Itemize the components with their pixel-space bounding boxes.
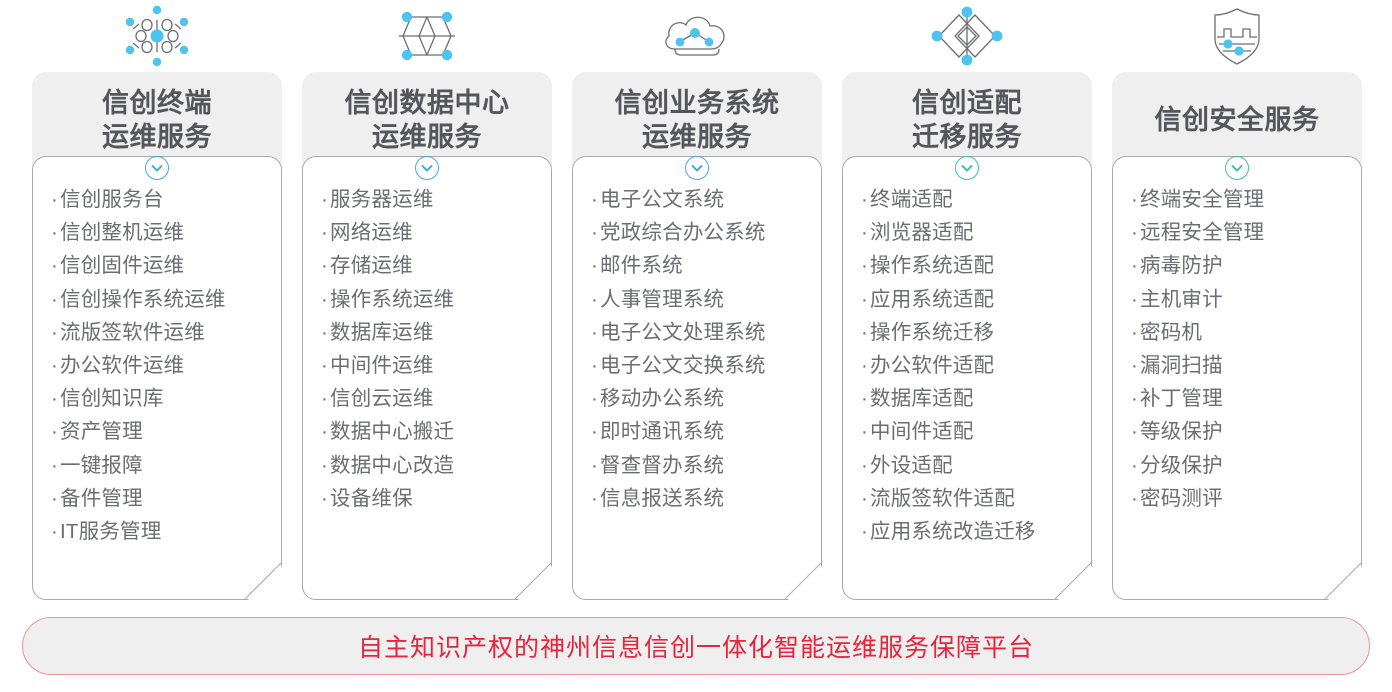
- platform-banner-text: 自主知识产权的神州信息信创一体化智能运维服务保障平台: [358, 628, 1034, 664]
- column-title: 信创数据中心 运维服务: [345, 86, 510, 154]
- bullet-dot: ·: [861, 188, 868, 211]
- list-item[interactable]: ·流版签软件运维: [51, 316, 281, 349]
- list-item-label: 信创整机运维: [60, 221, 184, 244]
- list-item-label: 移动办公系统: [600, 387, 724, 410]
- list-item-label: 应用系统改造迁移: [870, 520, 1036, 543]
- list-item-label: 病毒防护: [1140, 254, 1223, 277]
- list-item[interactable]: ·分级保护: [1131, 449, 1361, 482]
- bullet-dot: ·: [861, 221, 868, 244]
- list-item-label: 督查督办系统: [600, 454, 724, 477]
- service-column-adaptation[interactable]: 信创适配 迁移服务 ·终端适配 ·浏览器适配 ·操作系统适配 ·应用系统适配 ·…: [842, 0, 1092, 600]
- list-item[interactable]: ·电子公文处理系统: [591, 316, 821, 349]
- list-item[interactable]: ·浏览器适配: [861, 216, 1091, 249]
- list-item[interactable]: ·信创知识库: [51, 382, 281, 415]
- bullet-dot: ·: [861, 520, 868, 543]
- list-item[interactable]: ·信创固件运维: [51, 249, 281, 282]
- bullet-dot: ·: [591, 221, 598, 244]
- bullet-dot: ·: [321, 288, 328, 311]
- list-item-label: 数据库适配: [870, 387, 974, 410]
- bullet-dot: ·: [591, 420, 598, 443]
- bullet-dot: ·: [1131, 487, 1138, 510]
- list-item[interactable]: ·信创云运维: [321, 382, 551, 415]
- bullet-dot: ·: [591, 321, 598, 344]
- bullet-dot: ·: [591, 387, 598, 410]
- platform-banner: 自主知识产权的神州信息信创一体化智能运维服务保障平台: [22, 617, 1370, 675]
- list-item[interactable]: ·电子公文交换系统: [591, 349, 821, 382]
- chevron-down-icon[interactable]: [415, 156, 439, 180]
- list-item[interactable]: ·操作系统适配: [861, 249, 1091, 282]
- list-item[interactable]: ·党政综合办公系统: [591, 216, 821, 249]
- list-item[interactable]: ·终端安全管理: [1131, 183, 1361, 216]
- card-chamfer-corner: [243, 561, 283, 601]
- list-item-label: 密码机: [1140, 321, 1202, 344]
- bullet-dot: ·: [1131, 420, 1138, 443]
- column-header-plate: 信创终端 运维服务: [32, 72, 282, 168]
- bullet-dot: ·: [861, 354, 868, 377]
- list-item-label: 密码测评: [1140, 487, 1223, 510]
- list-item[interactable]: ·密码测评: [1131, 482, 1361, 515]
- hexagon-cluster-icon: [302, 0, 552, 72]
- list-item[interactable]: ·主机审计: [1131, 283, 1361, 316]
- service-item-list: ·终端安全管理 ·远程安全管理 ·病毒防护 ·主机审计 ·密码机 ·漏洞扫描 ·…: [1131, 183, 1361, 515]
- bullet-dot: ·: [591, 354, 598, 377]
- list-item[interactable]: ·即时通讯系统: [591, 415, 821, 448]
- card-chamfer-corner: [783, 561, 823, 601]
- list-item[interactable]: ·终端适配: [861, 183, 1091, 216]
- bullet-dot: ·: [1131, 454, 1138, 477]
- list-item[interactable]: ·密码机: [1131, 316, 1361, 349]
- list-item[interactable]: ·外设适配: [861, 449, 1091, 482]
- bullet-dot: ·: [1131, 387, 1138, 410]
- list-item[interactable]: ·数据库运维: [321, 316, 551, 349]
- list-item[interactable]: ·应用系统适配: [861, 283, 1091, 316]
- chevron-down-icon[interactable]: [685, 156, 709, 180]
- list-item-label: 信创服务台: [60, 188, 164, 211]
- list-item[interactable]: ·人事管理系统: [591, 283, 821, 316]
- list-item-label: 数据库运维: [330, 321, 434, 344]
- list-item[interactable]: ·远程安全管理: [1131, 216, 1361, 249]
- list-item[interactable]: ·移动办公系统: [591, 382, 821, 415]
- list-item[interactable]: ·中间件运维: [321, 349, 551, 382]
- bullet-dot: ·: [861, 288, 868, 311]
- bullet-dot: ·: [51, 288, 58, 311]
- column-header-plate: 信创适配 迁移服务: [842, 72, 1092, 168]
- list-item[interactable]: ·等级保护: [1131, 415, 1361, 448]
- cloud-network-icon: [572, 0, 822, 72]
- list-item[interactable]: ·数据中心搬迁: [321, 415, 551, 448]
- list-item[interactable]: ·IT服务管理: [51, 515, 281, 548]
- list-item-label: 即时通讯系统: [600, 420, 724, 443]
- bullet-dot: ·: [51, 520, 58, 543]
- bullet-dot: ·: [1131, 354, 1138, 377]
- list-item-label: 操作系统适配: [870, 254, 994, 277]
- service-item-list: ·信创服务台 ·信创整机运维 ·信创固件运维 ·信创操作系统运维 ·流版签软件运…: [51, 183, 281, 548]
- bullet-dot: ·: [861, 454, 868, 477]
- list-item-label: 主机审计: [1140, 288, 1223, 311]
- list-item-label: 终端安全管理: [1140, 188, 1264, 211]
- list-item[interactable]: ·资产管理: [51, 415, 281, 448]
- list-item-label: 信创固件运维: [60, 254, 184, 277]
- list-item-label: 操作系统迁移: [870, 321, 994, 344]
- list-item[interactable]: ·电子公文系统: [591, 183, 821, 216]
- list-item-label: 浏览器适配: [870, 221, 974, 244]
- bullet-dot: ·: [51, 454, 58, 477]
- bullet-dot: ·: [1131, 288, 1138, 311]
- bullet-dot: ·: [1131, 188, 1138, 211]
- list-item-label: 办公软件运维: [60, 354, 184, 377]
- infographic-page: 信创终端 运维服务 ·信创服务台 ·信创整机运维 ·信创固件运维 ·信创操作系统…: [0, 0, 1392, 692]
- bullet-dot: ·: [321, 420, 328, 443]
- list-item[interactable]: ·信创服务台: [51, 183, 281, 216]
- bullet-dot: ·: [591, 454, 598, 477]
- list-item-label: 信创知识库: [60, 387, 164, 410]
- list-item-label: 中间件适配: [870, 420, 974, 443]
- bullet-dot: ·: [51, 221, 58, 244]
- card-chamfer-corner: [1053, 561, 1093, 601]
- bullet-dot: ·: [861, 321, 868, 344]
- list-item[interactable]: ·漏洞扫描: [1131, 349, 1361, 382]
- service-item-list: ·终端适配 ·浏览器适配 ·操作系统适配 ·应用系统适配 ·操作系统迁移 ·办公…: [861, 183, 1091, 548]
- column-body-card: ·服务器运维 ·网络运维 ·存储运维 ·操作系统运维 ·数据库运维 ·中间件运维…: [302, 156, 552, 600]
- list-item-label: 设备维保: [330, 487, 413, 510]
- list-item-label: 邮件系统: [600, 254, 683, 277]
- bullet-dot: ·: [321, 221, 328, 244]
- list-item-label: 流版签软件适配: [870, 487, 1015, 510]
- bullet-dot: ·: [321, 454, 328, 477]
- bullet-dot: ·: [51, 321, 58, 344]
- card-chamfer-corner: [513, 561, 553, 601]
- column-header-plate: 信创业务系统 运维服务: [572, 72, 822, 168]
- service-column-security[interactable]: 信创安全服务 ·终端安全管理 ·远程安全管理 ·病毒防护 ·主机审计 ·密码机 …: [1112, 0, 1362, 600]
- list-item-label: 中间件运维: [330, 354, 434, 377]
- bullet-dot: ·: [321, 321, 328, 344]
- list-item-label: 办公软件适配: [870, 354, 994, 377]
- list-item-label: 存储运维: [330, 254, 413, 277]
- list-item-label: 服务器运维: [330, 188, 434, 211]
- service-column-datacenter[interactable]: 信创数据中心 运维服务 ·服务器运维 ·网络运维 ·存储运维 ·操作系统运维 ·…: [302, 0, 552, 600]
- column-body-card: ·电子公文系统 ·党政综合办公系统 ·邮件系统 ·人事管理系统 ·电子公文处理系…: [572, 156, 822, 600]
- list-item-label: IT服务管理: [60, 520, 161, 543]
- bullet-dot: ·: [51, 420, 58, 443]
- list-item-label: 操作系统运维: [330, 288, 454, 311]
- bullet-dot: ·: [861, 487, 868, 510]
- binary-network-icon: [32, 0, 282, 72]
- list-item[interactable]: ·信创整机运维: [51, 216, 281, 249]
- bullet-dot: ·: [591, 188, 598, 211]
- bullet-dot: ·: [321, 254, 328, 277]
- service-columns: 信创终端 运维服务 ·信创服务台 ·信创整机运维 ·信创固件运维 ·信创操作系统…: [0, 0, 1392, 600]
- service-column-terminal[interactable]: 信创终端 运维服务 ·信创服务台 ·信创整机运维 ·信创固件运维 ·信创操作系统…: [32, 0, 282, 600]
- list-item[interactable]: ·一键报障: [51, 449, 281, 482]
- list-item[interactable]: ·操作系统迁移: [861, 316, 1091, 349]
- list-item[interactable]: ·邮件系统: [591, 249, 821, 282]
- bullet-dot: ·: [591, 487, 598, 510]
- list-item[interactable]: ·数据库适配: [861, 382, 1091, 415]
- list-item-label: 电子公文交换系统: [600, 354, 766, 377]
- bullet-dot: ·: [861, 420, 868, 443]
- list-item-label: 流版签软件运维: [60, 321, 205, 344]
- list-item[interactable]: ·督查督办系统: [591, 449, 821, 482]
- list-item-label: 分级保护: [1140, 454, 1223, 477]
- service-column-business[interactable]: 信创业务系统 运维服务 ·电子公文系统 ·党政综合办公系统 ·邮件系统 ·人事管…: [572, 0, 822, 600]
- chevron-down-icon[interactable]: [955, 156, 979, 180]
- bullet-dot: ·: [591, 288, 598, 311]
- list-item-label: 电子公文系统: [600, 188, 724, 211]
- bullet-dot: ·: [51, 188, 58, 211]
- shield-pulse-icon: [1112, 0, 1362, 72]
- bullet-dot: ·: [1131, 221, 1138, 244]
- column-body-card: ·终端适配 ·浏览器适配 ·操作系统适配 ·应用系统适配 ·操作系统迁移 ·办公…: [842, 156, 1092, 600]
- list-item[interactable]: ·网络运维: [321, 216, 551, 249]
- column-title: 信创终端 运维服务: [102, 86, 212, 154]
- card-chamfer-corner: [1323, 561, 1363, 601]
- list-item-label: 人事管理系统: [600, 288, 724, 311]
- list-item-label: 资产管理: [60, 420, 143, 443]
- list-item-label: 备件管理: [60, 487, 143, 510]
- list-item-label: 信创云运维: [330, 387, 434, 410]
- list-item[interactable]: ·设备维保: [321, 482, 551, 515]
- list-item[interactable]: ·补丁管理: [1131, 382, 1361, 415]
- bullet-dot: ·: [591, 254, 598, 277]
- bullet-dot: ·: [321, 387, 328, 410]
- bullet-dot: ·: [861, 387, 868, 410]
- bullet-dot: ·: [1131, 254, 1138, 277]
- chevron-down-icon[interactable]: [1225, 156, 1249, 180]
- list-item-label: 外设适配: [870, 454, 953, 477]
- column-title: 信创安全服务: [1155, 103, 1320, 137]
- list-item[interactable]: ·备件管理: [51, 482, 281, 515]
- bullet-dot: ·: [861, 254, 868, 277]
- list-item-label: 网络运维: [330, 221, 413, 244]
- list-item[interactable]: ·服务器运维: [321, 183, 551, 216]
- list-item[interactable]: ·操作系统运维: [321, 283, 551, 316]
- bullet-dot: ·: [321, 354, 328, 377]
- list-item[interactable]: ·办公软件运维: [51, 349, 281, 382]
- list-item[interactable]: ·中间件适配: [861, 415, 1091, 448]
- service-item-list: ·服务器运维 ·网络运维 ·存储运维 ·操作系统运维 ·数据库运维 ·中间件运维…: [321, 183, 551, 515]
- list-item-label: 一键报障: [60, 454, 143, 477]
- service-item-list: ·电子公文系统 ·党政综合办公系统 ·邮件系统 ·人事管理系统 ·电子公文处理系…: [591, 183, 821, 515]
- list-item-label: 终端适配: [870, 188, 953, 211]
- diamond-nodes-icon: [842, 0, 1092, 72]
- list-item[interactable]: ·数据中心改造: [321, 449, 551, 482]
- bullet-dot: ·: [51, 487, 58, 510]
- list-item[interactable]: ·信创操作系统运维: [51, 283, 281, 316]
- list-item-label: 等级保护: [1140, 420, 1223, 443]
- list-item[interactable]: ·流版签软件适配: [861, 482, 1091, 515]
- column-header-plate: 信创安全服务: [1112, 72, 1362, 168]
- bullet-dot: ·: [321, 188, 328, 211]
- list-item-label: 补丁管理: [1140, 387, 1223, 410]
- bullet-dot: ·: [1131, 321, 1138, 344]
- list-item-label: 漏洞扫描: [1140, 354, 1223, 377]
- list-item-label: 数据中心改造: [330, 454, 454, 477]
- bullet-dot: ·: [51, 387, 58, 410]
- chevron-down-icon[interactable]: [145, 156, 169, 180]
- bullet-dot: ·: [51, 354, 58, 377]
- bullet-dot: ·: [51, 254, 58, 277]
- column-body-card: ·终端安全管理 ·远程安全管理 ·病毒防护 ·主机审计 ·密码机 ·漏洞扫描 ·…: [1112, 156, 1362, 600]
- list-item[interactable]: ·应用系统改造迁移: [861, 515, 1091, 548]
- list-item-label: 党政综合办公系统: [600, 221, 766, 244]
- bullet-dot: ·: [321, 487, 328, 510]
- list-item[interactable]: ·办公软件适配: [861, 349, 1091, 382]
- column-body-card: ·信创服务台 ·信创整机运维 ·信创固件运维 ·信创操作系统运维 ·流版签软件运…: [32, 156, 282, 600]
- list-item-label: 远程安全管理: [1140, 221, 1264, 244]
- column-header-plate: 信创数据中心 运维服务: [302, 72, 552, 168]
- column-title: 信创业务系统 运维服务: [615, 86, 780, 154]
- column-title: 信创适配 迁移服务: [912, 86, 1022, 154]
- list-item-label: 信创操作系统运维: [60, 288, 226, 311]
- list-item-label: 数据中心搬迁: [330, 420, 454, 443]
- list-item-label: 信息报送系统: [600, 487, 724, 510]
- list-item[interactable]: ·存储运维: [321, 249, 551, 282]
- list-item[interactable]: ·信息报送系统: [591, 482, 821, 515]
- list-item[interactable]: ·病毒防护: [1131, 249, 1361, 282]
- list-item-label: 电子公文处理系统: [600, 321, 766, 344]
- list-item-label: 应用系统适配: [870, 288, 994, 311]
